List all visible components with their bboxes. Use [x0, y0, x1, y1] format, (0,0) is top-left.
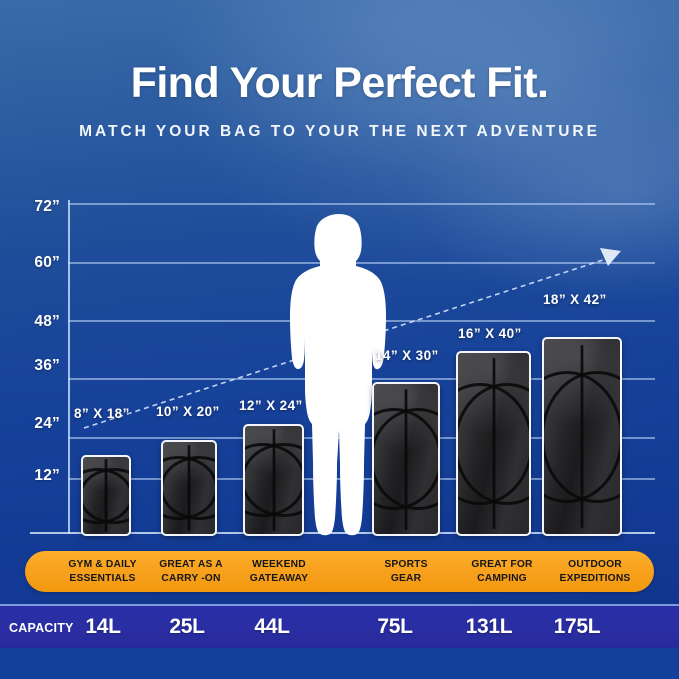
y-tick-label-24: 24”: [14, 415, 60, 433]
use-case-3[interactable]: WEEKEND GATEAWAY: [228, 558, 330, 585]
capacity-value-6: 175L: [532, 615, 622, 639]
use-case-bar: GYM & DAILY ESSENTIALS GREAT AS A CARRY …: [25, 551, 654, 592]
use-case-4[interactable]: SPORTS GEAR: [358, 558, 454, 585]
bag-5[interactable]: [456, 351, 531, 536]
use-case-2[interactable]: GREAT AS A CARRY -ON: [141, 558, 241, 585]
bag-dim-label-1: 8” X 18”: [74, 406, 130, 421]
capacity-bar: CAPACITY 14L 25L 44L 75L 131L 175L: [0, 604, 679, 652]
use-case-1[interactable]: GYM & DAILY ESSENTIALS: [50, 558, 155, 585]
capacity-value-3: 44L: [232, 615, 312, 639]
use-case-4-line2: GEAR: [358, 572, 454, 586]
bag-6[interactable]: [542, 337, 622, 536]
use-case-5[interactable]: GREAT FOR CAMPING: [452, 558, 552, 585]
y-tick-label-72: 72”: [14, 198, 60, 216]
use-case-2-line1: GREAT AS A: [141, 558, 241, 572]
y-tick-label-36: 36”: [14, 357, 60, 375]
y-axis-line: [68, 200, 70, 534]
bag-seam: [404, 389, 408, 530]
use-case-3-line2: GATEAWAY: [228, 572, 330, 586]
infographic-root: Find Your Perfect Fit. MATCH YOUR BAG TO…: [0, 0, 679, 679]
use-case-5-line1: GREAT FOR: [452, 558, 552, 572]
use-case-3-line1: WEEKEND: [228, 558, 330, 572]
bag-dim-label-6: 18” X 42”: [543, 292, 607, 307]
footer-strip: [0, 648, 679, 679]
use-case-1-line1: GYM & DAILY: [50, 558, 155, 572]
capacity-value-4: 75L: [355, 615, 435, 639]
bag-3[interactable]: [243, 424, 304, 536]
bag-2[interactable]: [161, 440, 217, 536]
bag-4[interactable]: [372, 382, 440, 536]
use-case-6[interactable]: OUTDOOR EXPEDITIONS: [542, 558, 648, 585]
bag-seam: [580, 345, 584, 528]
bag-seam: [187, 445, 191, 531]
use-case-5-line2: CAMPING: [452, 572, 552, 586]
bag-dim-label-4: 14” X 30”: [375, 348, 439, 363]
y-tick-label-12: 12”: [14, 467, 60, 485]
y-tick-label-60: 60”: [14, 254, 60, 272]
bag-dim-label-2: 10” X 20”: [156, 404, 220, 419]
bag-seam: [272, 429, 276, 531]
use-case-2-line2: CARRY -ON: [141, 572, 241, 586]
use-case-6-line1: OUTDOOR: [542, 558, 648, 572]
bag-seam: [492, 358, 496, 528]
bag-dim-label-5: 16” X 40”: [458, 326, 522, 341]
bag-1[interactable]: [81, 455, 131, 536]
capacity-value-5: 131L: [444, 615, 534, 639]
use-case-6-line2: EXPEDITIONS: [542, 572, 648, 586]
bag-seam: [104, 459, 108, 531]
use-case-4-line1: SPORTS: [358, 558, 454, 572]
bag-dim-label-3: 12” X 24”: [239, 398, 303, 413]
use-case-1-line2: ESSENTIALS: [50, 572, 155, 586]
capacity-value-1: 14L: [63, 615, 143, 639]
capacity-value-2: 25L: [147, 615, 227, 639]
y-tick-label-48: 48”: [14, 313, 60, 331]
gridline-72: [68, 203, 655, 205]
